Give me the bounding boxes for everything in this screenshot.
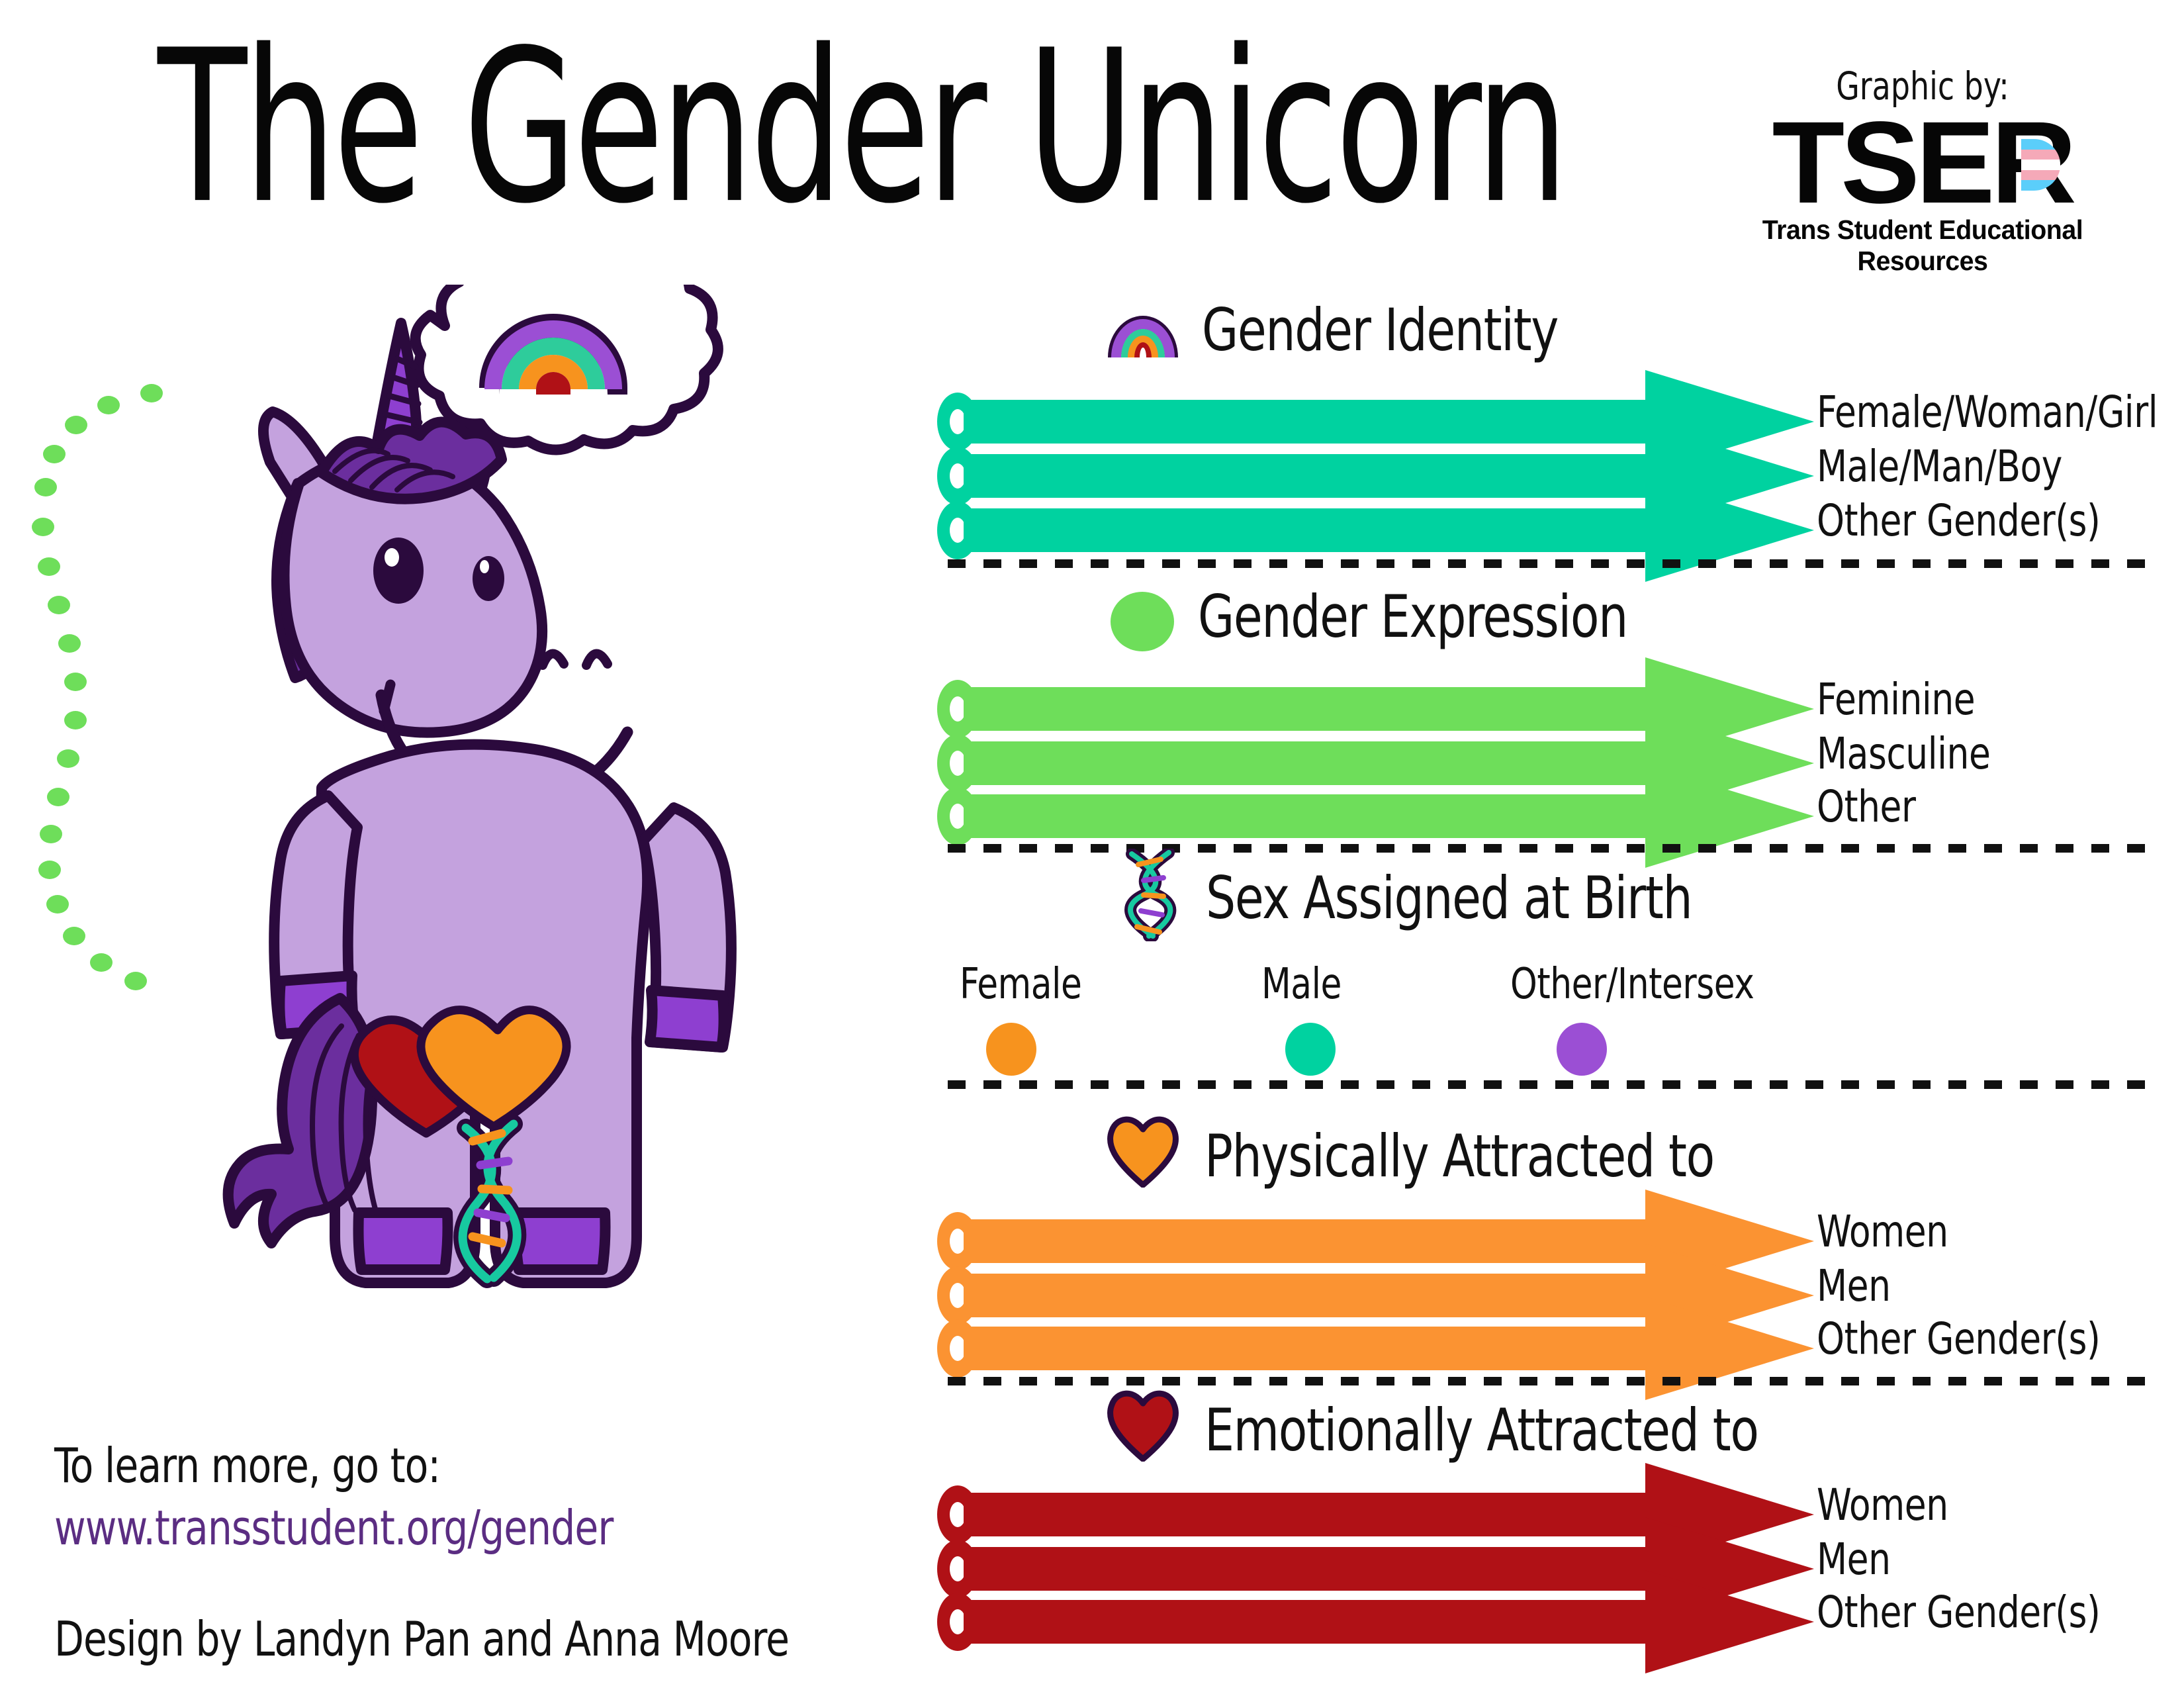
- decorative-dot: [34, 478, 57, 496]
- sex-option-dot: [1285, 1023, 1336, 1076]
- decorative-dot: [47, 788, 69, 806]
- arrow-shaft: [964, 794, 1645, 838]
- arrow-shaft: [964, 400, 1645, 444]
- arrow-shaft: [964, 687, 1645, 731]
- decorative-dot: [46, 895, 69, 914]
- spectrum-label: Men: [1817, 1538, 1891, 1581]
- spectrum-label: Other: [1817, 785, 1915, 829]
- arrow-shaft: [964, 1600, 1645, 1644]
- decorative-dot: [140, 384, 163, 402]
- arrow-shaft: [964, 1219, 1645, 1263]
- decorative-dot: [58, 634, 81, 653]
- section-heading-physically-attracted-to: Physically Attracted to: [1205, 1127, 1714, 1186]
- section-heading-emotionally-attracted-to: Emotionally Attracted to: [1205, 1401, 1758, 1460]
- section-heading-sex-assigned-at-birth: Sex Assigned at Birth: [1206, 869, 1692, 927]
- spectrum-label: Male/Man/Boy: [1817, 445, 2062, 489]
- decorative-dot: [97, 396, 120, 414]
- sex-option-dot: [1557, 1023, 1607, 1076]
- sex-option-label: Male: [1261, 963, 1342, 1006]
- orange-heart-icon: [1104, 1113, 1182, 1188]
- arrow-shaft: [964, 1327, 1645, 1370]
- spectrum-label: Masculine: [1817, 732, 1990, 776]
- sex-option-label: Other/Intersex: [1510, 963, 1754, 1006]
- decorative-dot: [63, 927, 85, 945]
- spectrum-panel: Gender IdentityFemale/Woman/GirlMale/Man…: [927, 0, 2184, 1688]
- dna-icon: [1117, 849, 1183, 941]
- decorative-dot: [64, 711, 87, 729]
- arrow-shaft: [964, 1493, 1645, 1536]
- website-link[interactable]: www.transstudent.org/gender: [54, 1504, 613, 1552]
- arrow-head: [1645, 1570, 1814, 1673]
- spectrum-label: Feminine: [1817, 678, 1975, 722]
- arrow-shaft: [964, 741, 1645, 785]
- decorative-dot: [38, 557, 60, 576]
- red-heart-icon: [1104, 1387, 1182, 1462]
- sex-option-dot: [986, 1023, 1036, 1076]
- decorative-dot: [90, 953, 113, 972]
- decorative-dot: [64, 673, 87, 691]
- spectrum-label: Other Gender(s): [1817, 1317, 2100, 1361]
- section-divider: [948, 559, 2160, 568]
- section-divider: [948, 1080, 2160, 1089]
- decorative-dot: [48, 596, 70, 614]
- section-heading-gender-identity: Gender Identity: [1202, 301, 1558, 359]
- spectrum-label: Men: [1817, 1264, 1891, 1308]
- spectrum-label: Other Gender(s): [1817, 1591, 2100, 1634]
- sex-option-label: Female: [960, 963, 1081, 1006]
- learn-more-label: To learn more, go to:: [54, 1442, 440, 1489]
- arrow-shaft: [964, 1274, 1645, 1317]
- section-divider: [948, 1377, 2160, 1385]
- green-circle-icon: [1109, 591, 1175, 652]
- decorative-dot: [57, 749, 79, 768]
- spectrum-label: Other Gender(s): [1817, 499, 2100, 543]
- spectrum-label: Women: [1817, 1483, 1948, 1527]
- decorative-dot: [43, 445, 66, 463]
- decorative-dot: [65, 416, 87, 434]
- decorative-dot: [124, 972, 147, 990]
- arrow-shaft: [964, 454, 1645, 498]
- decorative-dot: [40, 825, 62, 843]
- arrow-shaft: [964, 1547, 1645, 1591]
- unicorn-illustration: [199, 285, 900, 1370]
- spectrum-label: Women: [1817, 1210, 1948, 1254]
- rainbow-icon: [1107, 310, 1179, 359]
- design-credit: Design by Landyn Pan and Anna Moore: [54, 1615, 789, 1663]
- decorative-dot: [32, 518, 54, 536]
- spectrum-label: Female/Woman/Girl: [1817, 391, 2158, 434]
- decorative-dot: [38, 861, 61, 879]
- arrow-shaft: [964, 508, 1645, 552]
- section-heading-gender-expression: Gender Expression: [1198, 588, 1627, 646]
